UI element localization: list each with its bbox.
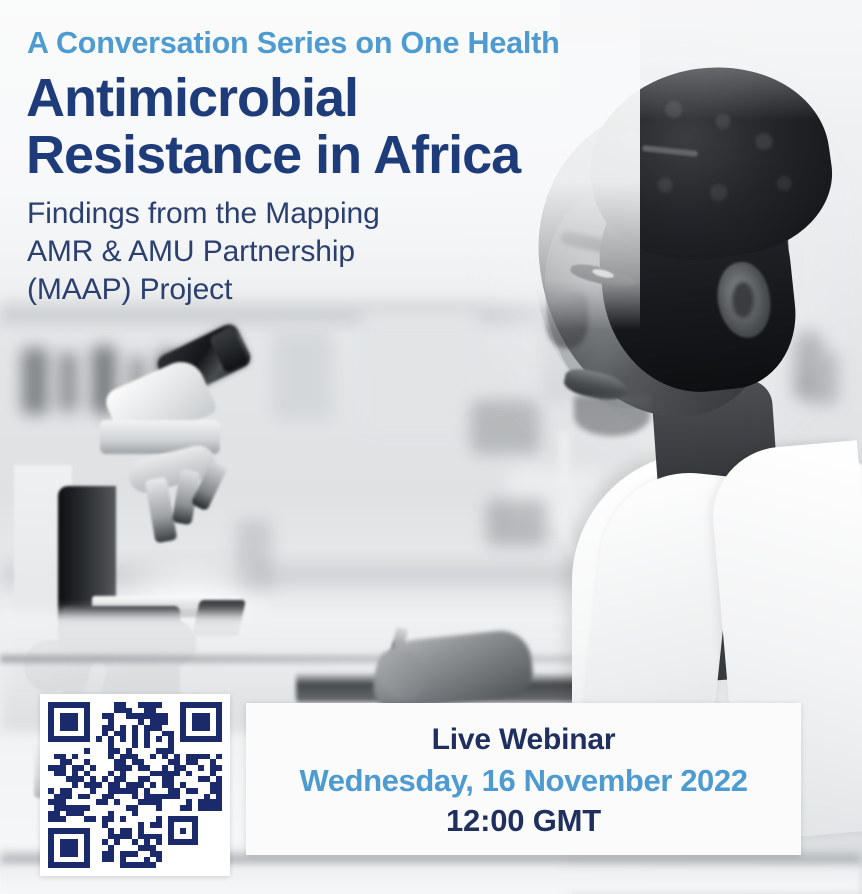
page-subtitle-line-1: Findings from the Mapping <box>27 195 380 233</box>
qr-code-card[interactable] <box>40 694 230 876</box>
lab-bottle <box>22 348 48 414</box>
event-date-label: Wednesday, 16 November 2022 <box>246 763 801 799</box>
page-title: Antimicrobial Resistance in Africa <box>26 70 520 184</box>
event-time-label: 12:00 GMT <box>246 803 801 839</box>
headline-scrim-right <box>560 0 862 120</box>
series-kicker: A Conversation Series on One Health <box>27 26 560 61</box>
event-type-label: Live Webinar <box>246 723 801 757</box>
page-title-line-2: Resistance in Africa <box>26 127 520 184</box>
page-subtitle: Findings from the Mapping AMR & AMU Part… <box>27 195 380 308</box>
lab-bottle <box>58 352 78 412</box>
webinar-details-banner: Live Webinar Wednesday, 16 November 2022… <box>246 703 801 855</box>
page-subtitle-line-3: (MAAP) Project <box>27 271 380 309</box>
webinar-poster: A Conversation Series on One Health Anti… <box>0 0 862 894</box>
page-subtitle-line-2: AMR & AMU Partnership <box>27 233 380 271</box>
lab-equipment <box>272 330 332 420</box>
ear-inner <box>732 282 754 318</box>
page-title-line-1: Antimicrobial <box>26 70 520 127</box>
chin <box>574 396 650 436</box>
qr-code-icon[interactable] <box>48 702 222 868</box>
